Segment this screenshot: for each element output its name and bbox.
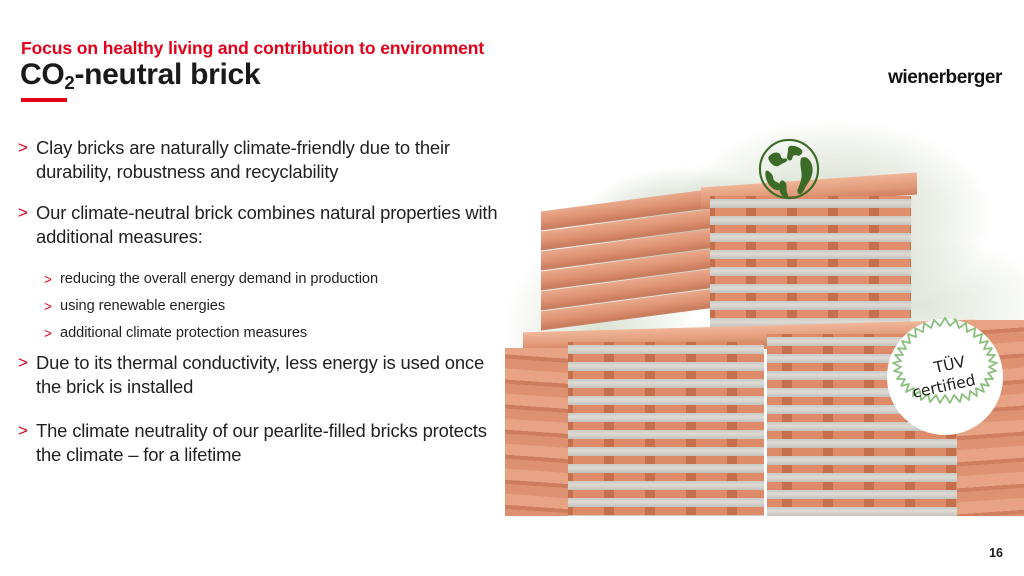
brick-left-edge xyxy=(505,348,571,516)
list-item: > Due to its thermal conductivity, less … xyxy=(18,351,510,399)
page-title-subscript: 2 xyxy=(64,72,74,93)
bullet-marker-icon: > xyxy=(44,324,60,342)
wienerberger-logo: wienerberger xyxy=(888,67,1002,89)
list-item: > additional climate protection measures xyxy=(18,324,510,343)
slide-root: Focus on healthy living and contribution… xyxy=(0,0,1024,576)
globe-icon xyxy=(758,138,820,200)
bullet-text: additional climate protection measures xyxy=(60,324,307,343)
bullet-text: using renewable energies xyxy=(60,297,225,316)
brick-photo: TÜV certified xyxy=(505,120,1024,516)
list-item: > reducing the overall energy demand in … xyxy=(18,270,510,289)
bullet-text: Due to its thermal conductivity, less en… xyxy=(36,351,510,399)
bullet-marker-icon: > xyxy=(18,419,36,442)
bullet-text: The climate neutrality of our pearlite-f… xyxy=(36,419,510,467)
list-item: > Clay bricks are naturally climate-frie… xyxy=(18,136,510,184)
list-item: > using renewable energies xyxy=(18,297,510,316)
bullet-marker-icon: > xyxy=(44,297,60,315)
list-item: > Our climate-neutral brick combines nat… xyxy=(18,201,510,249)
page-number: 16 xyxy=(989,546,1003,560)
bullet-text: Our climate-neutral brick combines natur… xyxy=(36,201,510,249)
bullet-marker-icon: > xyxy=(18,351,36,374)
perlite-cells xyxy=(568,342,764,516)
page-title-suffix: -neutral brick xyxy=(74,58,260,91)
bullet-text: reducing the overall energy demand in pr… xyxy=(60,270,378,289)
brick-face-lower-left xyxy=(568,342,764,516)
seal-starburst-icon xyxy=(884,316,1006,438)
title-underline-rule xyxy=(21,98,67,102)
bullet-marker-icon: > xyxy=(44,270,60,288)
bullet-marker-icon: > xyxy=(18,136,36,159)
page-title: CO2-neutral brick xyxy=(20,58,260,92)
page-title-prefix: CO xyxy=(20,58,64,91)
tuv-certified-seal: TÜV certified xyxy=(884,316,1006,438)
bullet-list: > Clay bricks are naturally climate-frie… xyxy=(18,136,510,484)
slide-eyebrow: Focus on healthy living and contribution… xyxy=(21,38,484,59)
bullet-text: Clay bricks are naturally climate-friend… xyxy=(36,136,510,184)
list-item: > The climate neutrality of our pearlite… xyxy=(18,419,510,467)
bullet-marker-icon: > xyxy=(18,201,36,224)
